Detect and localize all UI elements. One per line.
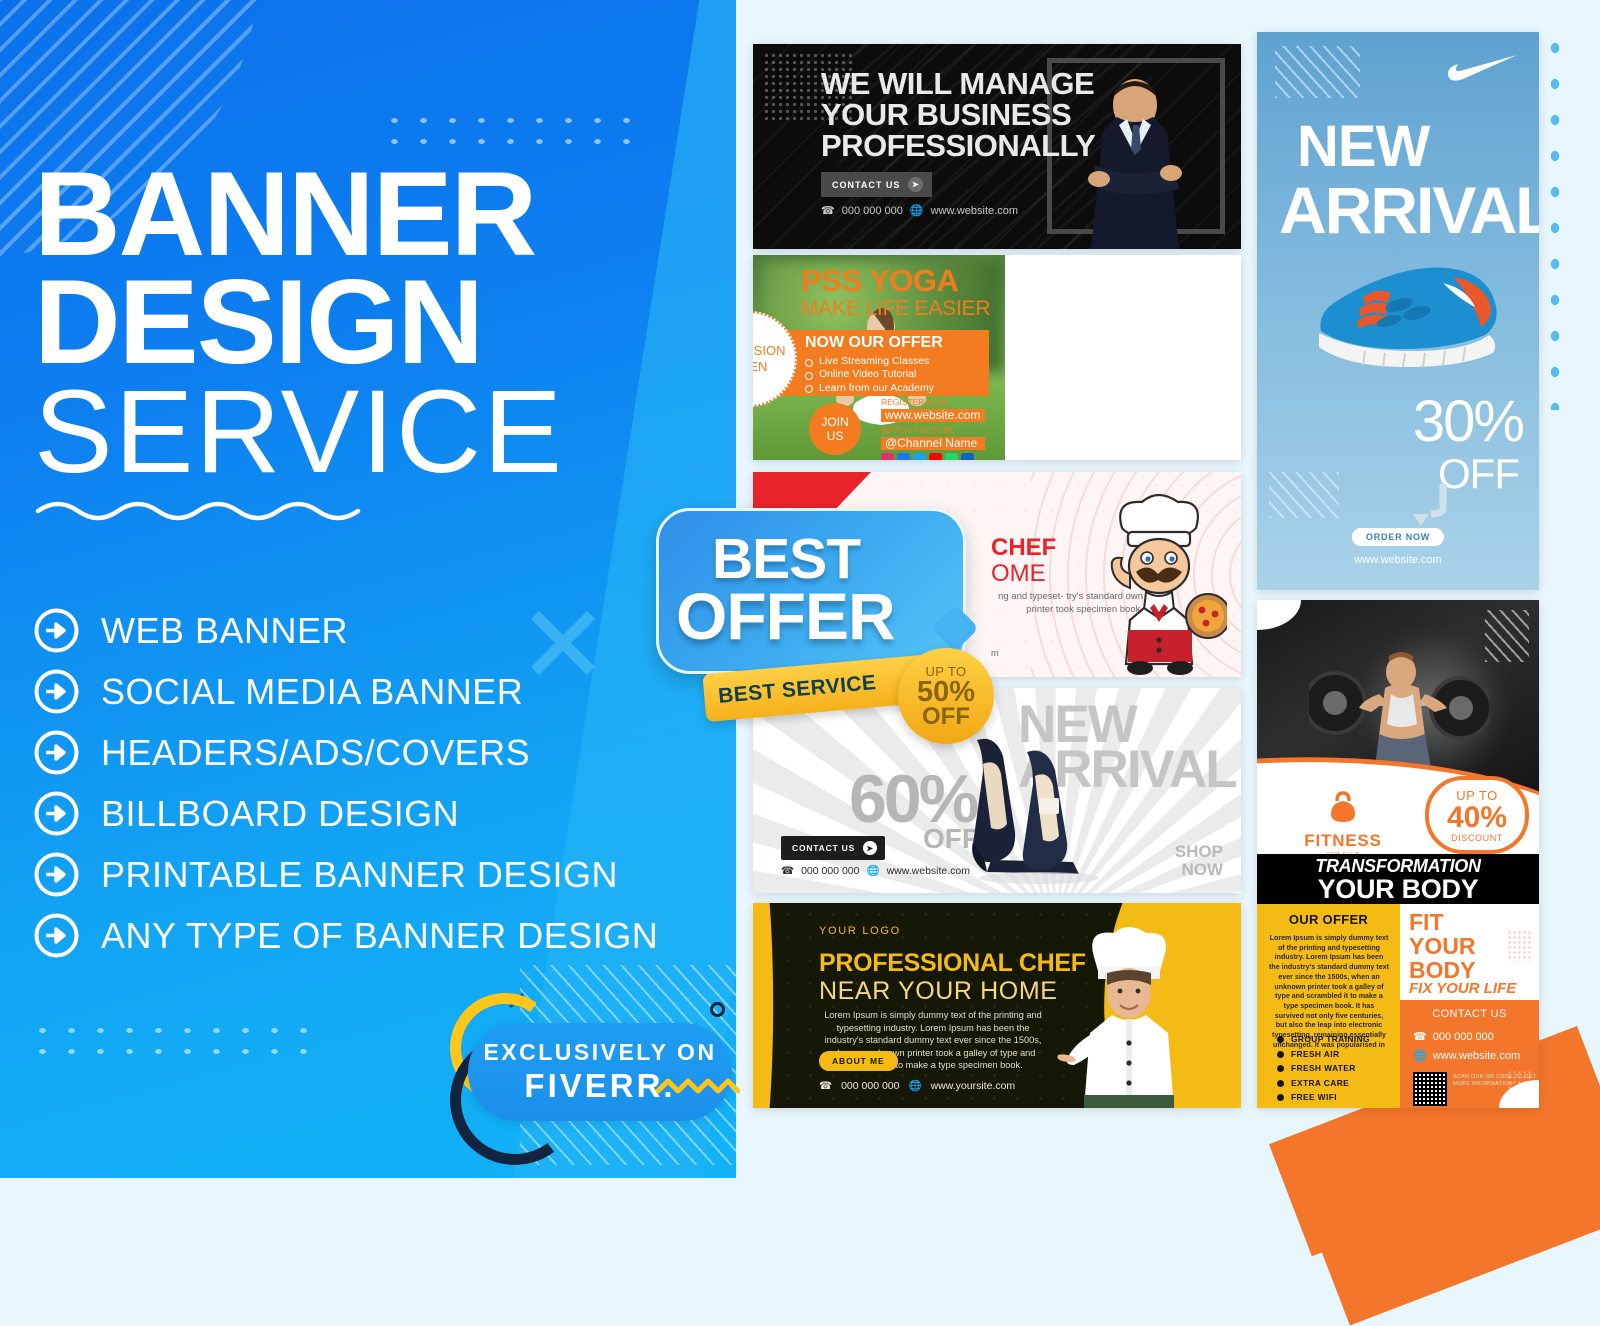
banner-nike[interactable]: NEW ARRIVAL 30% OFF O [1257,32,1539,590]
arrow-circle-icon [34,608,79,653]
chef-photo [1056,923,1191,1108]
circle-outline-decor [710,1002,725,1017]
order-now-button[interactable]: ORDER NOW [1352,528,1444,546]
title-line-2: YOUR BUSINESS [821,99,1095,130]
offer-heading: OUR OFFER [1257,912,1400,927]
banner-business[interactable]: WE WILL MANAGE YOUR BUSINESS PROFESSIONA… [753,44,1241,249]
nike-off-label: OFF [1438,450,1519,498]
fitness-logo-text: FITNESS [1297,831,1389,851]
best-service-label: BEST SERVICE [717,671,877,709]
fiverr-line-2: FIVERR. [524,1067,675,1105]
slogan-line-1: FIT [1409,910,1475,934]
fitness-phone-row: ☎ 000 000 000 [1413,1030,1494,1043]
list-item[interactable]: PRINTABLE BANNER DESIGN [34,844,658,905]
youtube-icon[interactable] [929,453,942,460]
discount-percent: 50% [917,679,975,706]
cartoon-chef-pizza [1092,492,1227,677]
title-line-3: PROFESSIONALLY [821,130,1095,161]
slogan-line-3: BODY [1409,958,1475,982]
phone-number: 000 000 000 [801,865,859,877]
banner-business-title: WE WILL MANAGE YOUR BUSINESS PROFESSIONA… [821,68,1095,161]
twitter-icon[interactable] [913,453,926,460]
fitness-web-row: 🌐 www.website.com [1413,1049,1520,1062]
dot-decor-1 [1507,930,1533,962]
chevron-right-icon: ➤ [908,177,923,192]
hatch-decor-top [1275,46,1360,98]
discount-percent: 40% [1447,803,1507,833]
phone-icon: ☎ [821,204,835,217]
phone-number: 000 000 000 [842,205,903,217]
discount-label: DISCOUNT [1451,833,1503,843]
discount-circle: UP TO 50% OFF [898,648,994,744]
list-item: FRESH WATER [1277,1061,1370,1076]
list-item: FREE WIFI [1277,1090,1370,1105]
list-item-label: WEB BANNER [101,610,348,652]
instagram-icon[interactable] [881,453,894,460]
yoga-offer-list: Live Streaming Classes Online Video Tuto… [805,355,934,395]
shop-line-2: NOW [1175,861,1223,879]
list-item: FRESH AIR [1277,1047,1370,1062]
list-item: Online Video Tutorial [805,368,934,381]
pchef-title-2: NEAR YOUR HOME [819,977,1058,1006]
register-url[interactable]: www.website.com [881,409,985,422]
contact-us-label: CONTACT US [832,180,900,190]
pchef-logo-text: YOUR LOGO [819,925,901,937]
website-url: www.website.com [887,865,970,877]
arrow-circle-icon [34,730,79,775]
hatch-decor [1485,610,1529,662]
dot-pattern-bottom [28,1020,328,1060]
fiverr-pill[interactable]: EXCLUSIVELY ON FIVERR. [468,1023,732,1121]
list-item: Learn from our Academy [805,382,934,395]
facebook-icon[interactable] [897,453,910,460]
qr-code-icon[interactable] [1413,1072,1447,1106]
arrow-circle-icon [34,852,79,897]
phone-icon: ☎ [1413,1030,1427,1043]
list-item[interactable]: SOCIAL MEDIA BANNER [34,661,658,722]
list-item-label: ANY TYPE OF BANNER DESIGN [101,915,658,957]
discount-badge: UP TO 40% DISCOUNT [1425,776,1529,854]
dot-pattern-top [380,110,640,150]
website-url: www.yoursite.com [931,1080,1016,1092]
nike-swoosh-icon [1447,54,1519,82]
chef-title-2: OME [991,560,1046,588]
list-item-label: PRINTABLE BANNER DESIGN [101,854,618,896]
heels-contact-row: ☎ 000 000 000 🌐 www.website.com [781,864,970,877]
linkedin-icon[interactable] [961,453,974,460]
yoga-content [1005,255,1241,460]
fitness-feature-list: GROUP TRAINING FRESH AIR FRESH WATER EXT… [1277,1032,1370,1108]
arrow-circle-icon [34,669,79,714]
business-contact-row: ☎ 000 000 000 🌐 www.website.com [821,204,1018,217]
list-item[interactable]: ANY TYPE OF BANNER DESIGN [34,905,658,966]
yoga-title: PSS YOGA [801,263,958,299]
service-list: WEB BANNER SOCIAL MEDIA BANNER HEADERS/A… [34,600,658,966]
whatsapp-icon[interactable] [945,453,958,460]
slogan-line-4: FIX YOUR LIFE [1409,980,1516,997]
list-item-label: SOCIAL MEDIA BANNER [101,671,523,713]
title-line-1: WE WILL MANAGE [821,68,1095,99]
fitness-logo: FITNESS GYM CLUB [1297,790,1389,858]
list-item-label: BILLBOARD DESIGN [101,793,459,835]
curved-arrow-icon [1407,480,1447,526]
list-item-label: HEADERS/ADS/COVERS [101,732,530,774]
contact-us-label: CONTACT US [792,843,855,853]
fitness-slogan: FIT YOUR BODY [1409,910,1475,982]
join-us-button[interactable]: JOIN US [809,403,861,455]
headline-banner: BANNER [34,160,694,268]
kettlebell-icon [1326,790,1360,824]
yoga-register-block: REGISTER NOW www.website.com WATCH YOUTU… [881,397,985,460]
nike-discount: 30% [1413,394,1523,450]
zigzag-decor-icon [656,1075,740,1099]
globe-icon: 🌐 [1413,1049,1427,1062]
contact-us-button[interactable]: CONTACT US ➤ [821,172,932,197]
list-item: GROUP TRAINING [1277,1032,1370,1047]
banner-professional-chef[interactable]: YOUR LOGO PROFESSIONAL CHEF NEAR YOUR HO… [753,903,1241,1108]
headline-design: DESIGN [34,268,694,376]
hatch-decor-bottom [1269,472,1339,518]
yoga-subtitle: MAKE LIFE EASIER [801,297,990,321]
list-item: EXTRA CARE [1277,1076,1370,1091]
best-offer-badge[interactable]: BEST OFFER BEST SERVICE UP TO 50% OFF [656,508,996,734]
list-item[interactable]: BILLBOARD DESIGN [34,783,658,844]
join-line-1: JOIN [821,415,848,429]
admission-line-1: ADMISSION [753,343,785,359]
speech-bubble-nub [931,604,979,652]
nike-website: www.website.com [1354,554,1441,566]
arrow-circle-icon [34,913,79,958]
phone-number: 000 000 000 [841,1080,899,1092]
admission-line-2: OPEN [753,359,767,375]
fiverr-line-1: EXCLUSIVELY ON [483,1039,716,1066]
headline-service: SERVICE [34,378,694,487]
channel-name[interactable]: @Channel Name [881,437,985,450]
phone-icon: ☎ [781,865,794,877]
list-item[interactable]: HEADERS/ADS/COVERS [34,722,658,783]
chef-title-1: CHEF [991,534,1056,562]
banner-yoga[interactable]: PSS YOGA MAKE LIFE EASIER NOW OUR OFFER … [753,255,1241,460]
contact-us-button[interactable]: CONTACT US ➤ [781,836,885,860]
shop-now-label[interactable]: SHOP NOW [1175,843,1223,879]
phone-icon: ☎ [819,1080,832,1092]
high-heel-shoes-photo [943,712,1123,887]
white-corner-decor [1257,600,1301,630]
about-me-button[interactable]: ABOUT ME [819,1051,898,1071]
chevron-right-icon: ➤ [863,841,877,855]
poster-canvas: BANNER DESIGN SERVICE WEB BANNER [0,0,1600,1178]
website-url: www.website.com [931,205,1018,217]
list-item: Live Streaming Classes [805,355,934,368]
list-item[interactable]: WEB BANNER [34,600,658,661]
globe-icon: 🌐 [910,204,924,217]
pchef-title-1: PROFESSIONAL CHEF [819,949,1086,978]
slogan-line-2: YOUR [1409,934,1475,958]
nike-title-2: ARRIVAL [1279,172,1539,248]
nike-title-1: NEW [1297,122,1429,172]
shop-line-1: SHOP [1175,843,1223,861]
contact-heading: CONTACT US [1400,1008,1539,1020]
website-url: www.website.com [1433,1050,1520,1062]
pchef-contact-row: ☎ 000 000 000 🌐 www.yoursite.com [819,1079,1015,1092]
globe-icon: 🌐 [867,864,880,877]
list-item: VIP SUPPORT [1277,1105,1370,1109]
offer-label: OFFER [676,578,895,654]
off-label: OFF [922,706,970,728]
globe-icon: 🌐 [909,1079,922,1092]
fitness-headline-2: YOUR BODY [1257,874,1539,905]
yoga-offer-heading: NOW OUR OFFER [805,334,943,352]
banner-fitness[interactable]: FITNESS GYM CLUB UP TO 40% DISCOUNT TRAN… [1257,600,1539,1108]
fiverr-badge[interactable]: EXCLUSIVELY ON FIVERR. [420,975,740,1135]
running-shoe-photo [1303,247,1523,372]
phone-number: 000 000 000 [1433,1031,1494,1043]
page-title: BANNER DESIGN SERVICE [34,160,694,523]
social-icons-row[interactable] [881,453,985,460]
join-line-2: US [827,429,844,443]
wave-underline-icon [34,495,364,523]
arrow-circle-icon [34,791,79,836]
youtube-label: WATCH YOUTUBE [881,425,985,436]
register-label: REGISTER NOW [881,397,985,408]
